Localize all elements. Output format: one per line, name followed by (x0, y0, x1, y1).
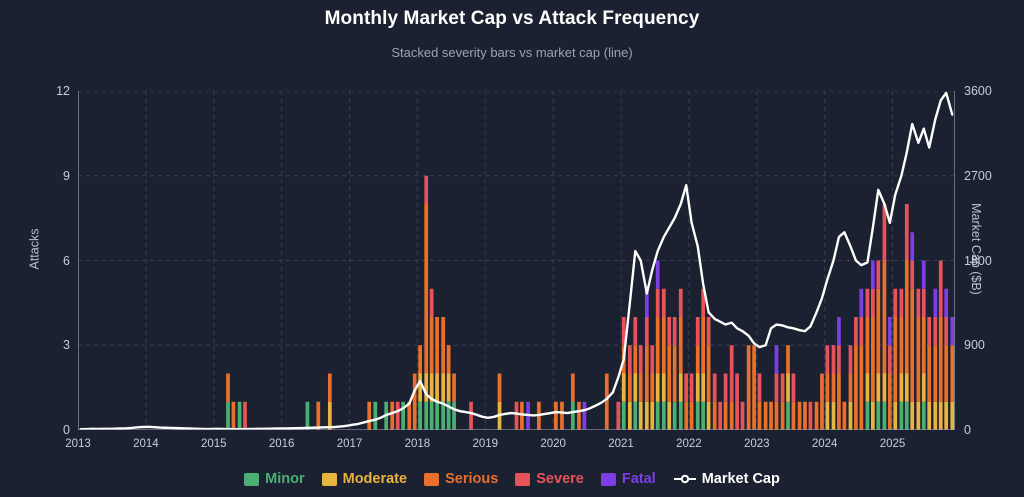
bar-segment-moderate (701, 374, 705, 402)
bar-segment-severe (866, 289, 870, 317)
x-tick-label: 2025 (880, 438, 906, 450)
legend-label: Moderate (343, 471, 407, 487)
bar-segment-severe (690, 374, 694, 402)
bar-segment-minor (238, 402, 242, 430)
bar-segment-serious (883, 261, 887, 374)
bar-segment-serious (452, 374, 456, 402)
y-tick-label-right: 3600 (964, 84, 992, 98)
bar-segment-serious (418, 345, 422, 373)
bar-segment-serious (645, 345, 649, 402)
legend-label: Market Cap (702, 471, 780, 487)
bar-segment-minor (306, 402, 310, 430)
bar-segment-serious (730, 402, 734, 430)
legend-item-moderate[interactable]: Moderate (322, 471, 407, 487)
bar-segment-moderate (905, 374, 909, 402)
bar-segment-severe (876, 261, 880, 289)
bar-segment-serious (866, 317, 870, 374)
bar-segment-severe (628, 345, 632, 373)
bar-segment-serious (758, 402, 762, 430)
chart-legend: MinorModerateSeriousSevereFatalMarket Ca… (0, 471, 1024, 487)
bar-segment-serious (900, 317, 904, 374)
legend-item-severe[interactable]: Severe (515, 471, 584, 487)
bar-segment-moderate (786, 374, 790, 402)
bar-segment-serious (803, 402, 807, 430)
bar-segment-serious (724, 402, 728, 430)
bar-segment-severe (944, 317, 948, 345)
bar-segment-minor (786, 402, 790, 430)
legend-swatch-icon (322, 473, 337, 486)
y-tick-label-left: 9 (34, 169, 70, 183)
y-tick-label-right: 2700 (964, 169, 992, 183)
bar-segment-serious (922, 317, 926, 374)
bar-segment-serious (554, 402, 558, 430)
legend-swatch-icon (515, 473, 530, 486)
bar-segment-severe (396, 402, 400, 430)
legend-item-serious[interactable]: Serious (424, 471, 498, 487)
bar-segment-moderate (916, 402, 920, 430)
bar-segment-minor (679, 402, 683, 430)
bar-segment-serious (871, 317, 875, 402)
bar-segment-minor (633, 402, 637, 430)
bar-segment-severe (679, 289, 683, 317)
bar-segment-severe (718, 402, 722, 430)
bar-segment-minor (883, 402, 887, 430)
bar-segment-serious (413, 374, 417, 431)
bar-segment-moderate (944, 402, 948, 430)
bar-segment-serious (226, 374, 230, 402)
bar-segment-serious (679, 317, 683, 374)
y-tick-label-left: 3 (34, 338, 70, 352)
bar-segment-serious (701, 317, 705, 374)
bar-segment-serious (781, 402, 785, 430)
bar-segment-minor (435, 402, 439, 430)
bar-segment-fatal (583, 402, 587, 430)
bar-segment-serious (769, 402, 773, 430)
bar-segment-moderate (441, 374, 445, 402)
legend-line-marker-icon (673, 473, 697, 485)
y-tick-label-left: 12 (34, 84, 70, 98)
bar-segment-serious (560, 402, 564, 430)
bar-segment-moderate (707, 402, 711, 430)
x-tick-label: 2017 (337, 438, 363, 450)
bar-segment-fatal (888, 317, 892, 345)
bar-segment-severe (781, 374, 785, 402)
bar-segment-serious (571, 374, 575, 402)
bar-segment-moderate (876, 374, 880, 402)
bar-segment-serious (843, 402, 847, 430)
bar-segment-severe (650, 345, 654, 373)
bar-segment-minor (226, 402, 230, 430)
bar-segment-serious (764, 402, 768, 430)
x-tick-label: 2023 (744, 438, 770, 450)
bar-segment-serious (447, 345, 451, 373)
bar-segment-serious (328, 374, 332, 402)
bar-segment-severe (662, 289, 666, 317)
x-tick-label: 2021 (608, 438, 634, 450)
bar-segment-serious (888, 374, 892, 431)
bar-segment-serious (893, 317, 897, 402)
bar-segment-severe (916, 289, 920, 317)
chart-svg (78, 91, 955, 430)
bar-segment-moderate (622, 374, 626, 402)
chart-title: Monthly Market Cap vs Attack Frequency (0, 8, 1024, 30)
bar-segment-serious (424, 204, 428, 374)
bar-segment-serious (628, 374, 632, 402)
bar-segment-serious (435, 317, 439, 374)
bar-segment-severe (673, 317, 677, 345)
bar-segment-moderate (927, 402, 931, 430)
bar-segment-serious (950, 345, 954, 402)
bar-segment-moderate (645, 402, 649, 430)
bar-segment-severe (735, 374, 739, 431)
legend-label: Severe (536, 471, 584, 487)
bar-segment-severe (859, 317, 863, 345)
bar-segment-serious (713, 402, 717, 430)
bar-segment-severe (893, 289, 897, 317)
bar-segment-severe (616, 402, 620, 430)
bar-segment-moderate (418, 374, 422, 402)
bar-segment-severe (741, 402, 745, 430)
bar-segment-severe (871, 289, 875, 317)
bar-segment-moderate (424, 374, 428, 402)
bar-segment-minor (701, 402, 705, 430)
bar-segment-serious (944, 345, 948, 402)
bar-segment-minor (900, 402, 904, 430)
bar-segment-serious (673, 345, 677, 402)
bar-segment-moderate (696, 374, 700, 402)
x-tick-label: 2024 (812, 438, 838, 450)
bar-segment-moderate (893, 402, 897, 430)
bar-segment-serious (633, 345, 637, 373)
bar-segment-serious (707, 345, 711, 402)
bar-segment-fatal (910, 232, 914, 260)
bar-segment-moderate (633, 374, 637, 402)
bar-segment-minor (441, 402, 445, 430)
bar-segment-serious (786, 345, 790, 373)
bar-segment-severe (243, 402, 247, 430)
bar-segment-severe (713, 374, 717, 402)
bar-segment-severe (905, 204, 909, 261)
bar-segment-fatal (859, 289, 863, 317)
bar-segment-severe (775, 374, 779, 402)
bar-segment-minor (696, 402, 700, 430)
bar-segment-severe (730, 345, 734, 402)
bar-segment-severe (469, 402, 473, 430)
bar-segment-serious (430, 317, 434, 374)
bar-segment-serious (815, 402, 819, 430)
bar-segment-severe (424, 176, 428, 204)
x-tick-label: 2014 (133, 438, 159, 450)
bar-segment-moderate (328, 402, 332, 430)
bar-segment-serious (905, 261, 909, 374)
y-tick-label-right: 0 (964, 423, 971, 437)
legend-label: Minor (265, 471, 304, 487)
bar-segment-minor (430, 402, 434, 430)
bar-segment-serious (577, 402, 581, 430)
plot-area (78, 91, 955, 430)
bar-segment-severe (854, 317, 858, 345)
bar-segment-moderate (679, 374, 683, 402)
chart-subtitle: Stacked severity bars vs market cap (lin… (0, 45, 1024, 60)
legend-label: Serious (445, 471, 498, 487)
bar-segment-moderate (639, 402, 643, 430)
bar-segment-severe (900, 289, 904, 317)
bar-segment-severe (645, 317, 649, 345)
legend-item-fatal[interactable]: Fatal (601, 471, 656, 487)
bar-segment-serious (910, 289, 914, 402)
bar-segment-moderate (650, 402, 654, 430)
bar-segment-moderate (628, 402, 632, 430)
y-tick-label-left: 6 (34, 254, 70, 268)
bar-segment-moderate (883, 374, 887, 402)
x-tick-label: 2016 (269, 438, 295, 450)
bar-segment-serious (876, 289, 880, 374)
legend-swatch-icon (244, 473, 259, 486)
bar-segment-severe (922, 289, 926, 317)
bar-segment-fatal (656, 261, 660, 289)
bar-segment-fatal (944, 289, 948, 317)
bar-segment-minor (673, 402, 677, 430)
bar-segment-minor (424, 402, 428, 430)
bar-segment-moderate (900, 374, 904, 402)
bar-segment-moderate (656, 374, 660, 402)
bar-segment-moderate (435, 374, 439, 402)
bar-segment-moderate (933, 402, 937, 430)
bar-segment-serious (639, 374, 643, 402)
bar-segment-serious (232, 402, 236, 430)
chart-container: Monthly Market Cap vs Attack Frequency S… (0, 0, 1024, 497)
bar-segment-moderate (866, 374, 870, 402)
bar-segment-severe (910, 261, 914, 289)
bar-segment-severe (792, 374, 796, 402)
bar-segment-severe (826, 345, 830, 373)
bar-segment-moderate (832, 402, 836, 430)
x-tick-label: 2018 (405, 438, 431, 450)
bar-segment-serious (916, 317, 920, 402)
bar-segment-serious (752, 345, 756, 430)
bar-segment-serious (775, 402, 779, 430)
bar-segment-serious (656, 317, 660, 374)
bar-segment-serious (826, 374, 830, 402)
bar-segment-minor (452, 402, 456, 430)
bar-segment-minor (571, 402, 575, 430)
legend-label: Fatal (622, 471, 656, 487)
bar-segment-moderate (910, 402, 914, 430)
bar-segment-serious (854, 345, 858, 430)
bar-segment-serious (684, 402, 688, 430)
bar-segment-severe (696, 317, 700, 345)
bar-segment-moderate (662, 374, 666, 402)
bar-segment-serious (798, 402, 802, 430)
bar-segment-severe (515, 402, 519, 430)
bar-segment-serious (605, 374, 609, 431)
bar-segment-serious (933, 345, 937, 402)
x-tick-label: 2013 (65, 438, 91, 450)
bar-segment-severe (724, 374, 728, 402)
bar-segment-severe (837, 345, 841, 373)
legend-swatch-icon (601, 473, 616, 486)
bar-segment-fatal (933, 289, 937, 317)
bar-segment-severe (656, 289, 660, 317)
bar-segment-serious (650, 374, 654, 402)
bar-segment-serious (747, 345, 751, 430)
bar-segment-minor (622, 402, 626, 430)
bar-segment-fatal (775, 345, 779, 373)
bar-segment-severe (633, 317, 637, 345)
bar-segment-minor (866, 402, 870, 430)
bar-segment-serious (498, 374, 502, 402)
legend-item-minor[interactable]: Minor (244, 471, 304, 487)
bar-segment-moderate (871, 402, 875, 430)
bar-segment-minor (876, 402, 880, 430)
x-tick-label: 2015 (201, 438, 227, 450)
bar-segment-severe (849, 345, 853, 373)
y-tick-label-right: 900 (964, 338, 985, 352)
bar-segment-serious (316, 402, 320, 430)
bar-segment-fatal (837, 317, 841, 345)
bar-segment-serious (390, 402, 394, 430)
bar-segment-minor (373, 402, 377, 430)
bar-segment-serious (820, 374, 824, 431)
legend-item-market-cap[interactable]: Market Cap (673, 471, 780, 487)
bar-segment-serious (849, 374, 853, 402)
bar-segment-severe (939, 261, 943, 318)
bar-segment-severe (758, 374, 762, 402)
bar-segment-moderate (826, 402, 830, 430)
bar-segment-severe (809, 402, 813, 430)
bar-segment-severe (667, 317, 671, 345)
bar-segment-severe (832, 345, 836, 373)
bar-segment-serious (367, 402, 371, 430)
bar-segment-minor (905, 402, 909, 430)
bar-segment-severe (888, 345, 892, 373)
bar-segment-serious (696, 345, 700, 373)
bar-segment-serious (792, 402, 796, 430)
bar-segment-fatal (871, 261, 875, 289)
bar-segment-serious (662, 317, 666, 374)
bar-segment-severe (927, 317, 931, 345)
legend-swatch-icon (424, 473, 439, 486)
bar-segment-moderate (447, 374, 451, 402)
bar-segment-serious (927, 345, 931, 402)
y-axis-right-label: Market Cap ($B) (969, 203, 983, 295)
bar-segment-serious (690, 402, 694, 430)
bar-segment-severe (933, 317, 937, 345)
bar-segment-severe (684, 374, 688, 402)
bar-segment-severe (430, 289, 434, 317)
bars-group (226, 176, 954, 430)
bar-segment-serious (832, 374, 836, 402)
bar-segment-serious (859, 345, 863, 430)
bar-segment-serious (520, 402, 524, 430)
bar-segment-serious (939, 317, 943, 402)
y-tick-label-right: 1800 (964, 254, 992, 268)
bar-segment-serious (837, 374, 841, 431)
x-tick-label: 2020 (540, 438, 566, 450)
bar-segment-severe (707, 317, 711, 345)
bar-segment-minor (662, 402, 666, 430)
bar-segment-serious (667, 345, 671, 402)
bar-segment-moderate (849, 402, 853, 430)
bar-segment-minor (656, 402, 660, 430)
bar-segment-severe (639, 345, 643, 373)
bar-segment-moderate (950, 402, 954, 430)
bar-segment-minor (922, 402, 926, 430)
x-tick-label: 2022 (676, 438, 702, 450)
bar-segment-serious (441, 317, 445, 374)
bar-segment-moderate (922, 374, 926, 402)
y-tick-label-left: 0 (34, 423, 70, 437)
x-tick-label: 2019 (472, 438, 498, 450)
bar-segment-moderate (667, 402, 671, 430)
bar-segment-moderate (939, 402, 943, 430)
bar-segment-minor (418, 402, 422, 430)
bar-segment-fatal (950, 317, 954, 345)
bar-segment-fatal (922, 261, 926, 289)
